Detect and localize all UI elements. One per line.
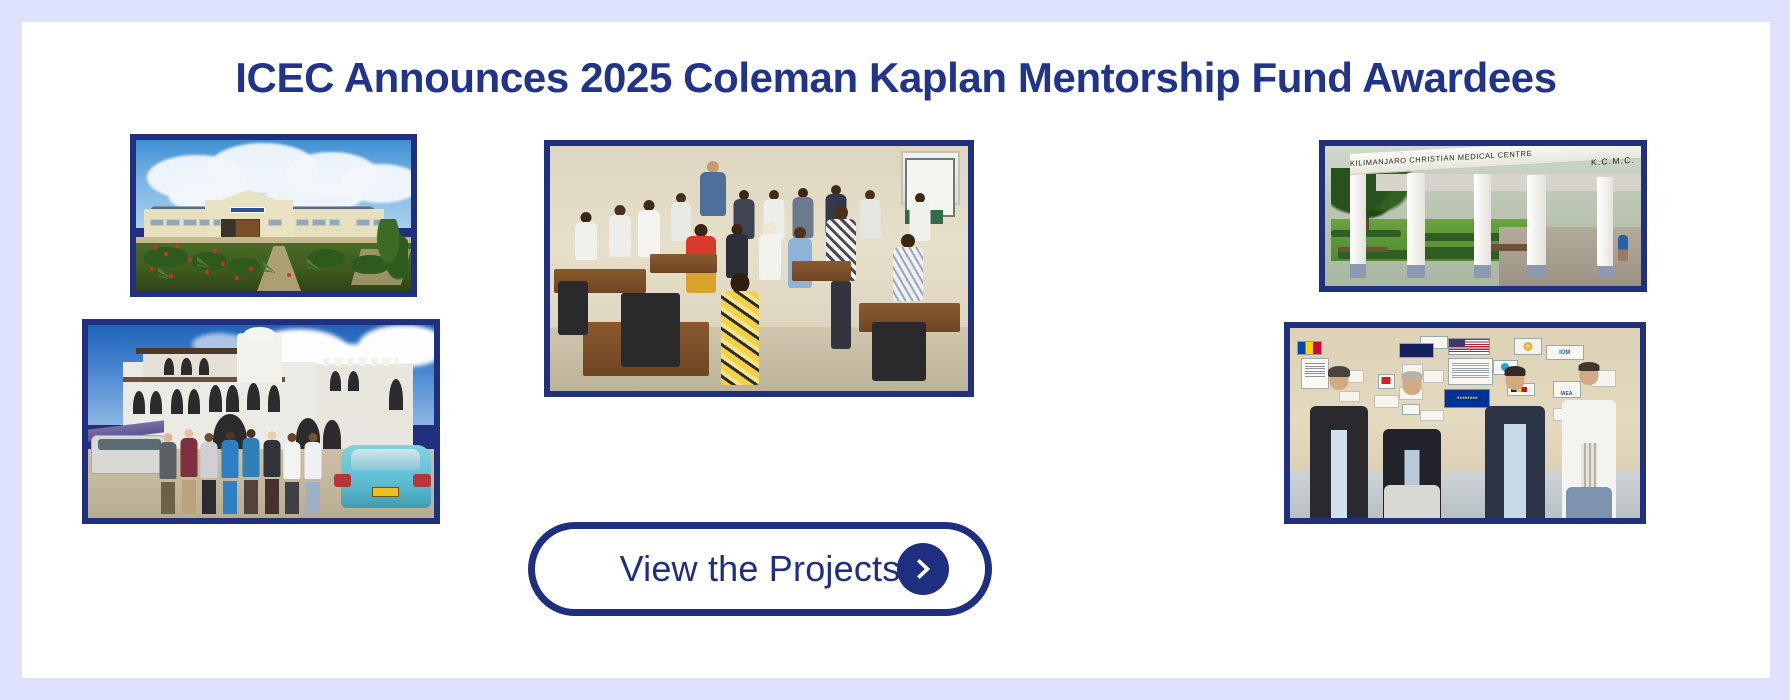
chevron-right-icon[interactable] (897, 543, 949, 595)
person (240, 429, 261, 514)
car-rear-window (351, 449, 420, 470)
photo-site-visit-group (82, 319, 440, 524)
trousers (831, 281, 851, 349)
legs (306, 482, 320, 514)
flower (164, 252, 168, 256)
archway (323, 420, 340, 449)
photo-partner-wall-delegation: IOM IAEA (1284, 322, 1646, 524)
white-coat (638, 210, 660, 257)
head (308, 433, 317, 442)
arched-window (209, 385, 221, 412)
kcmc-sign-abbreviation: K.C.M.C. (1591, 155, 1635, 167)
flower (175, 244, 179, 248)
shrub (375, 219, 408, 282)
car-taillight (413, 474, 430, 488)
tower-dome (244, 327, 275, 341)
white-coat (859, 199, 880, 238)
flower (235, 276, 239, 280)
dress-shirt (1504, 424, 1526, 518)
legs (244, 480, 258, 514)
attendee (609, 205, 631, 274)
torso (242, 438, 259, 477)
person-dark-suit (1308, 366, 1370, 518)
legs (223, 481, 237, 514)
chair (558, 281, 587, 335)
clinic-scene (136, 140, 411, 291)
desk (792, 261, 851, 281)
person-grey-beard (1381, 370, 1443, 518)
patterned-shirt (893, 247, 923, 301)
torso (180, 438, 197, 477)
white-coat (609, 215, 631, 258)
crenellation (323, 358, 399, 366)
legs (202, 480, 216, 514)
agave-plant (307, 252, 333, 270)
person (178, 429, 200, 514)
window (268, 219, 282, 227)
white-coat (759, 234, 781, 280)
legs (265, 479, 279, 514)
person (303, 433, 323, 514)
classroom-scene (550, 146, 968, 391)
arched-window (247, 383, 259, 410)
window (166, 219, 180, 227)
group-scene (88, 325, 434, 518)
suv-window (98, 439, 160, 451)
arched-window (133, 391, 145, 414)
legs (161, 482, 175, 514)
torso (160, 442, 177, 479)
head (731, 273, 750, 293)
flower (205, 270, 209, 274)
chair (872, 322, 926, 381)
plaque-scene: IOM IAEA (1290, 328, 1640, 518)
head (267, 431, 276, 440)
agave-plant (263, 255, 289, 273)
car-taillight (334, 474, 351, 488)
plaque-moldova-flag (1297, 341, 1322, 354)
chair (621, 293, 680, 367)
clinic-signboard (230, 207, 266, 213)
torso (200, 442, 217, 478)
photo-classroom-training (544, 140, 974, 397)
window (150, 219, 164, 227)
torso (283, 442, 300, 479)
head (834, 205, 848, 220)
jeans (1566, 487, 1612, 518)
person (261, 431, 282, 514)
window (296, 219, 310, 227)
attendee (575, 212, 597, 276)
dress-shirt (1331, 430, 1347, 518)
hair (1402, 371, 1423, 380)
window (312, 219, 326, 227)
shirt (726, 234, 748, 278)
person (157, 433, 179, 514)
torso (304, 442, 321, 479)
window (199, 219, 210, 227)
agave-plant (197, 250, 223, 268)
plaque-us-embassy (1399, 343, 1434, 358)
floral-dress (721, 291, 759, 385)
column (1597, 177, 1613, 278)
head (204, 433, 213, 442)
shrub (227, 258, 260, 275)
torso (221, 440, 238, 478)
window (213, 219, 221, 227)
person-navy-blazer (1483, 366, 1547, 518)
cta-label: View the Projects (620, 548, 901, 590)
hair (1328, 366, 1350, 377)
arched-window (348, 371, 359, 390)
person (1618, 235, 1628, 261)
flower (213, 249, 217, 253)
arched-window (181, 358, 191, 375)
foreground-attendee (721, 273, 759, 391)
building-tower (237, 333, 282, 383)
hair (1504, 366, 1525, 376)
attendee-hijab (759, 222, 781, 296)
legs (285, 482, 299, 514)
window (329, 219, 340, 227)
flower (150, 267, 154, 271)
torso (263, 440, 280, 477)
kcmc-scene: KILIMANJARO CHRISTIAN MEDICAL CENTRE K.C… (1325, 146, 1641, 286)
person (219, 431, 240, 514)
photo-kcmc-entrance: KILIMANJARO CHRISTIAN MEDICAL CENTRE K.C… (1319, 140, 1647, 292)
head (287, 433, 296, 442)
car-licence-plate (372, 487, 400, 497)
hair (1578, 362, 1599, 371)
banner-card: ICEC Announces 2025 Coleman Kaplan Mento… (22, 22, 1770, 678)
window (183, 219, 197, 227)
white-coat (575, 222, 597, 260)
shirt (700, 172, 726, 216)
head (225, 431, 234, 440)
person-white-coat (1560, 362, 1618, 518)
plaque-iom: IOM (1546, 345, 1585, 360)
banner-background: ICEC Announces 2025 Coleman Kaplan Mento… (0, 0, 1790, 700)
light-trousers (1384, 485, 1440, 518)
column (1407, 173, 1424, 278)
flower (249, 267, 253, 271)
photo-clinic-building (130, 134, 417, 297)
window (356, 219, 370, 227)
attendee (859, 190, 880, 254)
person (282, 433, 302, 514)
arched-window (171, 389, 183, 414)
head (246, 429, 255, 438)
column (1474, 174, 1491, 278)
desk (650, 254, 717, 274)
page-title: ICEC Announces 2025 Coleman Kaplan Mento… (22, 54, 1770, 102)
head (164, 433, 173, 442)
head (901, 234, 915, 248)
flower (153, 246, 157, 250)
legs (182, 480, 196, 514)
view-the-projects-button[interactable]: View the Projects (528, 522, 992, 616)
plaque-gold-seal (1514, 338, 1542, 355)
column (1350, 166, 1366, 278)
column (1527, 175, 1546, 277)
person (199, 433, 219, 514)
head (184, 429, 193, 438)
plaque-us-flag (1448, 338, 1490, 355)
